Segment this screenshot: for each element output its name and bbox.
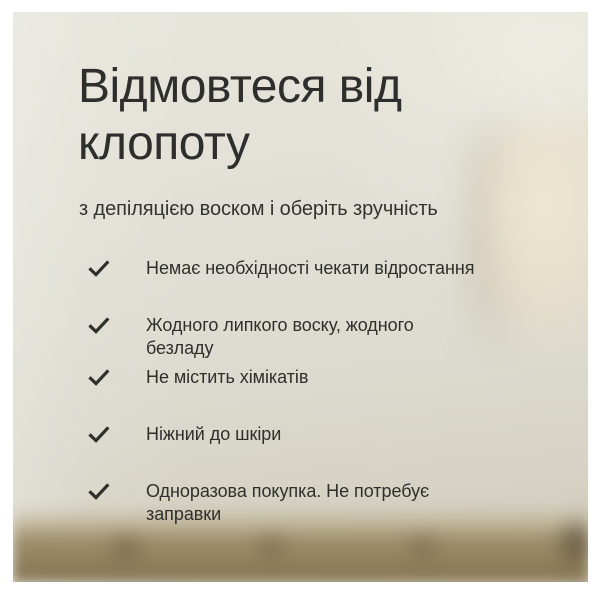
benefit-item: Не містить хімікатів (79, 366, 579, 393)
benefit-item: Жодного липкого воску, жодного безладу (79, 314, 579, 360)
benefits-list: Немає необхідності чекати відростання Жо… (79, 257, 579, 526)
benefit-label: Не містить хімікатів (146, 366, 579, 389)
benefit-label: Жодного липкого воску, жодного безладу (146, 314, 579, 360)
check-icon (88, 481, 110, 503)
benefit-item: Одноразова покупка. Не потребує заправки (79, 480, 579, 526)
benefit-item: Немає необхідності чекати відростання (79, 257, 579, 284)
check-icon (88, 424, 110, 446)
check-icon (88, 367, 110, 389)
subheadline: з депіляцією воском і оберіть зручність (79, 196, 559, 222)
benefit-label: Одноразова покупка. Не потребує заправки (146, 480, 579, 526)
benefit-label: Ніжний до шкіри (146, 423, 579, 446)
benefit-label: Немає необхідності чекати відростання (146, 257, 579, 280)
headline: Відмовтеся від клопоту (78, 58, 548, 172)
check-icon (88, 258, 110, 280)
check-icon (88, 315, 110, 337)
card-content: Відмовтеся від клопоту з депіляцією воск… (13, 12, 588, 582)
promo-card: Відмовтеся від клопоту з депіляцією воск… (13, 12, 588, 582)
benefit-item: Ніжний до шкіри (79, 423, 579, 450)
